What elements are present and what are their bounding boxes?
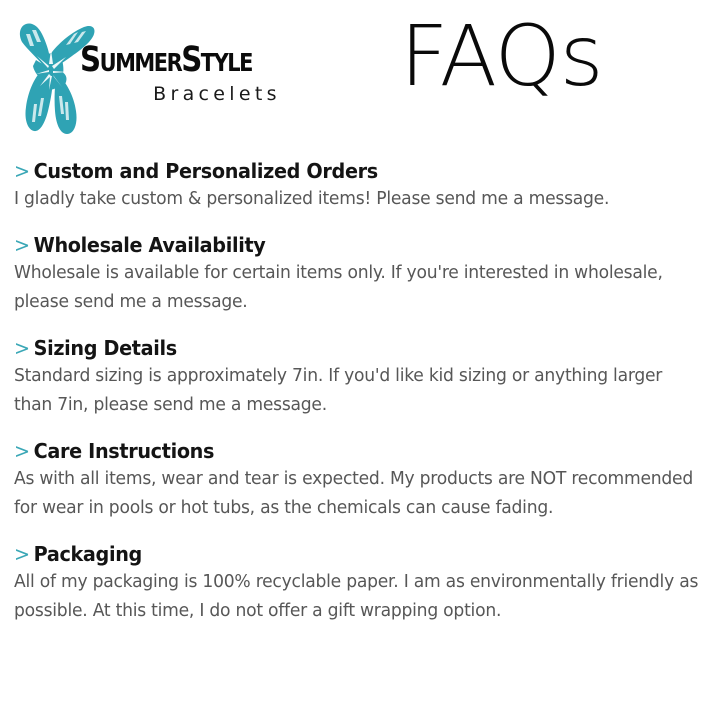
faq-heading: >Packaging <box>14 541 676 567</box>
faq-heading-label: Custom and Personalized Orders <box>34 159 378 183</box>
faq-heading: >Sizing Details <box>14 335 676 361</box>
faq-body: Standard sizing is approximately 7in. If… <box>14 362 698 420</box>
faq-section-custom-orders: >Custom and Personalized Orders I gladly… <box>14 158 704 214</box>
chevron-right-icon: > <box>14 233 34 257</box>
faq-heading: >Care Instructions <box>14 438 676 464</box>
faq-section-packaging: >Packaging All of my packaging is 100% r… <box>14 541 704 626</box>
faq-body: Wholesale is available for certain items… <box>14 259 698 317</box>
brand-logo: SummerStyle Bracelets <box>8 8 308 143</box>
chevron-right-icon: > <box>14 542 34 566</box>
faq-body: All of my packaging is 100% recyclable p… <box>14 568 698 626</box>
page-title: FAQs <box>400 10 602 102</box>
chevron-right-icon: > <box>14 159 34 183</box>
faq-section-sizing: >Sizing Details Standard sizing is appro… <box>14 335 704 420</box>
faq-body: As with all items, wear and tear is expe… <box>14 465 698 523</box>
faq-heading-label: Wholesale Availability <box>34 233 266 257</box>
faq-heading-label: Packaging <box>34 542 142 566</box>
faq-heading: >Wholesale Availability <box>14 232 676 258</box>
faq-heading-label: Care Instructions <box>34 439 214 463</box>
page-header: SummerStyle Bracelets FAQs <box>0 0 720 150</box>
faq-heading: >Custom and Personalized Orders <box>14 158 676 184</box>
faq-section-wholesale: >Wholesale Availability Wholesale is ava… <box>14 232 704 317</box>
faq-heading-label: Sizing Details <box>34 336 177 360</box>
faq-list: >Custom and Personalized Orders I gladly… <box>14 158 704 626</box>
faq-section-care: >Care Instructions As with all items, we… <box>14 438 704 523</box>
faq-page: SummerStyle Bracelets FAQs >Custom and P… <box>0 0 720 720</box>
brand-name: SummerStyle <box>80 41 294 79</box>
brand-subtitle: Bracelets <box>80 83 310 105</box>
chevron-right-icon: > <box>14 336 34 360</box>
brand-wordmark: SummerStyle Bracelets <box>80 41 310 105</box>
faq-body: I gladly take custom & personalized item… <box>14 185 698 214</box>
chevron-right-icon: > <box>14 439 34 463</box>
